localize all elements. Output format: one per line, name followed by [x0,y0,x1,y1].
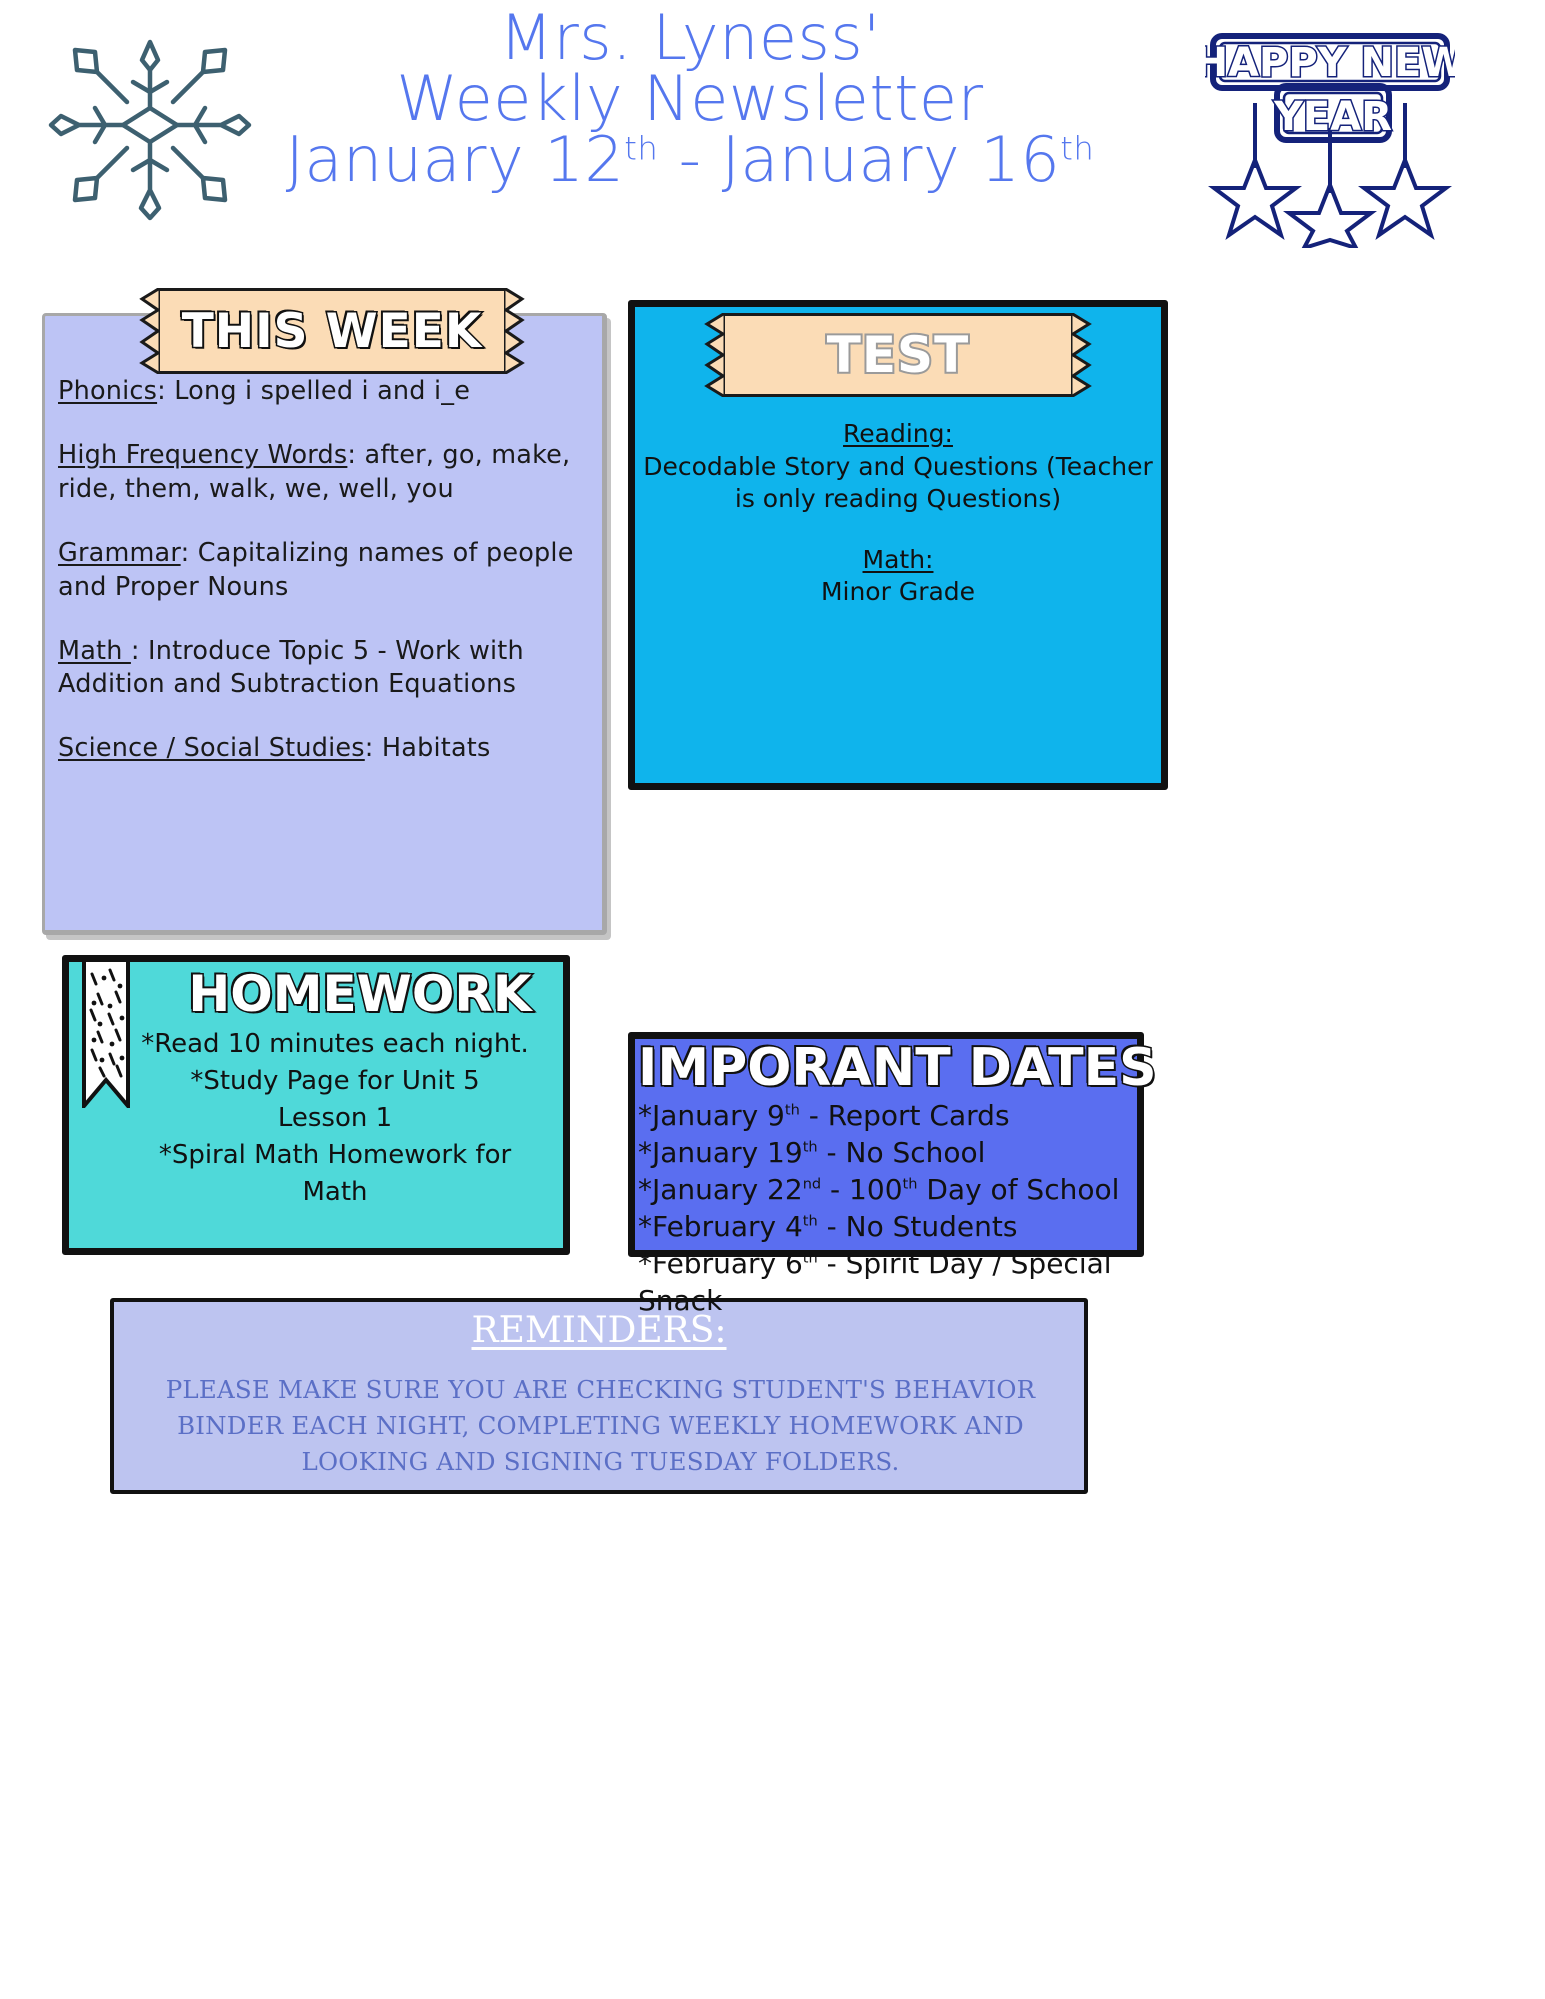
date-item: *February 4th - No Students [638,1209,1143,1246]
date-ordinal: th [785,1102,800,1119]
ribbon-zigzag-right-icon [1071,313,1093,397]
date-item: *January 9th - Report Cards [638,1098,1143,1135]
test-banner: TEST [723,313,1073,397]
title-line-1: Mrs. Lyness' [200,8,1180,69]
date-sup-2: th [1060,129,1094,167]
date-ordinal: th [803,1139,818,1156]
this-week-banner-label: THIS WEEK [182,304,483,359]
bookmark-ribbon-icon [82,958,130,1108]
ribbon-zigzag-left-icon [138,288,160,374]
test-group-heading: Reading: [636,418,1160,451]
entry-sep: : [181,538,198,568]
date-suffix: - No Students [818,1210,1018,1243]
date-suffix: - No School [818,1136,986,1169]
happy-new-year-icon: HAPPY NEW YEAR [1205,18,1455,248]
homework-title: HOMEWORK [160,965,560,1023]
date-ordinal: th [803,1249,818,1266]
entry-label: Phonics [58,376,157,406]
page-title: Mrs. Lyness' Weekly Newsletter January 1… [200,8,1180,190]
date-prefix: *February 6 [638,1247,803,1280]
ribbon-zigzag-right-icon [504,288,526,374]
homework-line: Lesson 1 [110,1100,560,1137]
date-ordinal: th [803,1213,818,1230]
this-week-entry: Grammar: Capitalizing names of people an… [58,537,620,605]
test-content: Reading: Decodable Story and Questions (… [636,418,1160,609]
this-week-entry: High Frequency Words: after, go, make, r… [58,439,620,507]
date-suffix-2: Day of School [917,1173,1119,1206]
homework-line: *Read 10 minutes each night. [110,1026,560,1063]
this-week-entry: Science / Social Studies: Habitats [58,732,620,766]
title-line-2: Weekly Newsletter [200,69,1180,130]
entry-sep: : [157,376,174,406]
date-mid: - January 16 [658,123,1060,196]
ribbon-zigzag-left-icon [703,313,725,397]
entry-label: High Frequency Words [58,440,347,470]
homework-list: *Read 10 minutes each night. *Study Page… [110,1026,560,1211]
this-week-banner: THIS WEEK [158,288,506,374]
date-prefix: *January 22 [638,1173,803,1206]
title-date-line: January 12th - January 16th [200,130,1180,191]
test-banner-label: TEST [827,326,969,384]
this-week-entry: Math : Introduce Topic 5 - Work with Add… [58,635,620,703]
reminders-text: PLEASE MAKE SURE YOU ARE CHECKING STUDEN… [138,1372,1063,1480]
entry-sep: : [131,636,148,666]
entry-label: Science / Social Studies [58,733,365,763]
entry-label: Grammar [58,538,181,568]
test-group-text: Decodable Story and Questions (Teacher i… [636,451,1160,516]
entry-text: Long i spelled i and i_e [174,376,470,406]
test-group: Reading: Decodable Story and Questions (… [636,418,1160,516]
important-dates-title: IMPORANT DATES [638,1038,1138,1098]
this-week-entry: Phonics: Long i spelled i and i_e [58,375,620,409]
entry-label: Math [58,636,131,666]
important-dates-list: *January 9th - Report Cards *January 19t… [638,1098,1143,1320]
date-ordinal-2: th [903,1176,918,1193]
this-week-content: Phonics: Long i spelled i and i_e High F… [58,375,620,766]
date-item: *January 22nd - 100th Day of School [638,1172,1143,1209]
homework-line: *Spiral Math Homework for [110,1137,560,1174]
homework-line: Math [110,1174,560,1211]
date-sup-1: th [624,129,658,167]
test-group: Math: Minor Grade [636,544,1160,609]
date-prefix: *January 9 [638,1099,785,1132]
reminders-title: REMINDERS: [110,1310,1088,1351]
homework-line: *Study Page for Unit 5 [110,1063,560,1100]
date-ordinal: nd [803,1176,821,1193]
date-prefix: January 12 [286,123,625,196]
entry-text: Habitats [382,733,491,763]
entry-sep: : [365,733,382,763]
test-group-text: Minor Grade [636,576,1160,609]
date-item: *February 6th - Spirit Day / Special Sna… [638,1246,1143,1320]
date-prefix: *February 4 [638,1210,803,1243]
newsletter-header: Mrs. Lyness' Weekly Newsletter January 1… [0,0,1545,270]
date-suffix: - Report Cards [800,1099,1010,1132]
date-prefix: *January 19 [638,1136,803,1169]
hny-line-1: HAPPY NEW [1205,40,1455,86]
date-suffix: - 100 [821,1173,902,1206]
entry-sep: : [347,440,364,470]
date-item: *January 19th - No School [638,1135,1143,1172]
hny-line-2: YEAR [1273,94,1392,140]
test-group-heading: Math: [636,544,1160,577]
